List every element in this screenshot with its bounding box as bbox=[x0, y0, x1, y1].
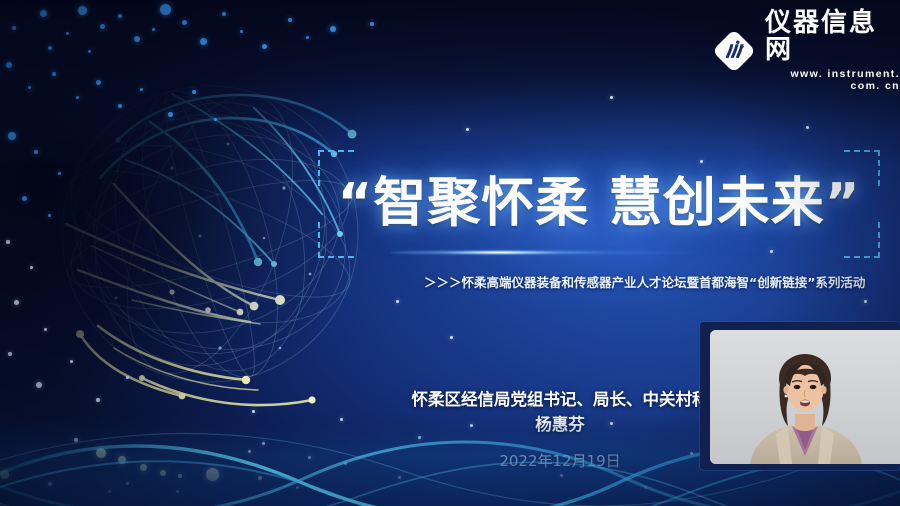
logo-url: www. instrument. com. cn bbox=[765, 68, 900, 92]
video-feed[interactable] bbox=[710, 330, 900, 464]
logo-name-cn: 仪器信息网 bbox=[765, 10, 900, 65]
speaker-video-overlay[interactable] bbox=[700, 322, 900, 470]
speaker-portrait bbox=[710, 330, 900, 464]
presentation-slide: “智聚怀柔 慧创未来” ＞＞＞怀柔高端仪器装备和传感器产业人才论坛暨首都海智“创… bbox=[0, 0, 900, 506]
logo-text: 仪器信息网 www. instrument. com. cn bbox=[765, 10, 900, 92]
site-logo: 仪器信息网 www. instrument. com. cn bbox=[712, 10, 900, 92]
instrument-diamond-logo-icon bbox=[712, 29, 756, 73]
